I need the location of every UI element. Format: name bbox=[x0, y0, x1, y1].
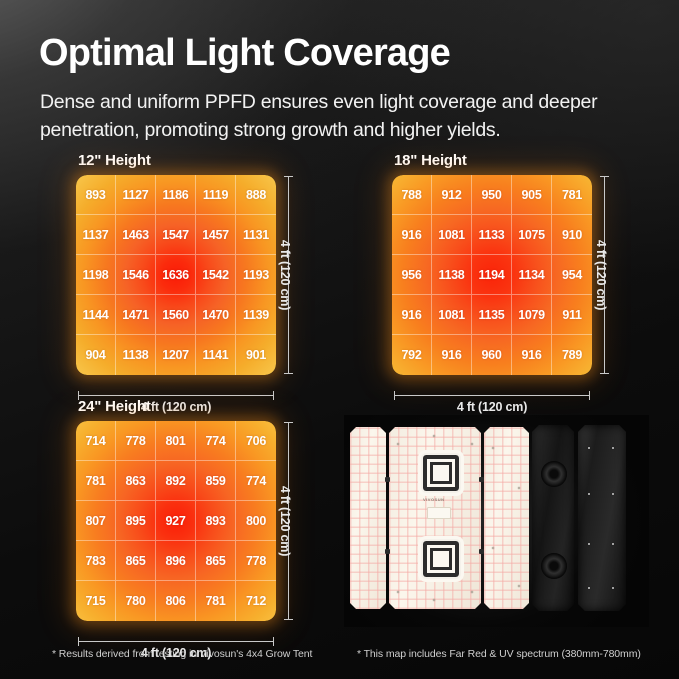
heatmap-cell: 781 bbox=[552, 175, 592, 215]
heatmap-cell: 1127 bbox=[116, 175, 156, 215]
infographic-canvas: Optimal Light Coverage Dense and uniform… bbox=[0, 0, 679, 679]
heatmap-cells-18in: 7889129509057819161081113310759109561138… bbox=[392, 175, 592, 375]
cooling-fan-icon bbox=[541, 461, 567, 487]
heatmap-cell: 1471 bbox=[116, 295, 156, 335]
heatmap-cell: 1560 bbox=[156, 295, 196, 335]
hinge-icon bbox=[479, 549, 484, 554]
screw-icon bbox=[588, 447, 590, 449]
heatmap-cell: 1137 bbox=[76, 215, 116, 255]
heatmap-cell: 801 bbox=[156, 421, 196, 461]
heatmap-cell: 1186 bbox=[156, 175, 196, 215]
heatmap-cell: 774 bbox=[196, 421, 236, 461]
screw-icon bbox=[492, 547, 494, 549]
heatmap-cell: 789 bbox=[552, 335, 592, 375]
led-board-center: VIVOSUN bbox=[389, 427, 481, 609]
height-dimension-label: 4 ft (120 cm) bbox=[592, 175, 609, 375]
width-dimension-18in: 4 ft (120 cm) bbox=[392, 388, 592, 414]
heatmap-cell: 905 bbox=[512, 175, 552, 215]
heatmap-grid-18in: 7889129509057819161081113310759109561138… bbox=[392, 175, 592, 375]
width-rule-icon bbox=[394, 391, 590, 400]
heatmap-cell: 893 bbox=[76, 175, 116, 215]
hinge-icon bbox=[385, 549, 390, 554]
heatmap-cell: 1457 bbox=[196, 215, 236, 255]
product-photo-led-grow-light: VIVOSUN bbox=[344, 415, 649, 627]
heatmap-cell: 893 bbox=[196, 501, 236, 541]
heatmap-cell: 1139 bbox=[236, 295, 276, 335]
screw-icon bbox=[612, 493, 614, 495]
heatmap-cell: 1135 bbox=[472, 295, 512, 335]
heatmap-cell: 1081 bbox=[432, 215, 472, 255]
back-cover-plate bbox=[578, 425, 626, 611]
heatmap-cell: 800 bbox=[236, 501, 276, 541]
heatmap-cell: 1133 bbox=[472, 215, 512, 255]
heatmap-cell: 1207 bbox=[156, 335, 196, 375]
width-dimension-label: 4 ft (120 cm) bbox=[392, 400, 592, 414]
heatmap-cell: 1144 bbox=[76, 295, 116, 335]
heatmap-cell: 1134 bbox=[512, 255, 552, 295]
heatmap-cell: 916 bbox=[392, 215, 432, 255]
heatmap-cell: 859 bbox=[196, 461, 236, 501]
page-subtitle: Dense and uniform PPFD ensures even ligh… bbox=[40, 89, 640, 144]
heatmap-cell: 895 bbox=[116, 501, 156, 541]
heatmap-cell: 954 bbox=[552, 255, 592, 295]
heatmap-cell: 916 bbox=[512, 335, 552, 375]
heatmap-cell: 1081 bbox=[432, 295, 472, 335]
heatmap-cell: 1636 bbox=[156, 255, 196, 295]
heatmap-cell: 783 bbox=[76, 541, 116, 581]
hinge-icon bbox=[385, 477, 390, 482]
height-dimension-label: 4 ft (120 cm) bbox=[276, 421, 293, 621]
page-title: Optimal Light Coverage bbox=[39, 34, 450, 74]
screw-icon bbox=[471, 591, 473, 593]
height-dimension-18in: 4 ft (120 cm) bbox=[598, 175, 626, 375]
heatmap-cell: 778 bbox=[236, 541, 276, 581]
heatmap-cell: 778 bbox=[116, 421, 156, 461]
led-emitter-icon bbox=[421, 539, 461, 579]
screw-icon bbox=[471, 443, 473, 445]
driver-chip bbox=[427, 507, 451, 519]
heatmap-cell: 788 bbox=[392, 175, 432, 215]
heatmap-cell: 865 bbox=[196, 541, 236, 581]
height-dimension-24in: 4 ft (120 cm) bbox=[282, 421, 310, 621]
heatsink-housing bbox=[532, 425, 574, 611]
screw-icon bbox=[397, 591, 399, 593]
heatmap-cell: 781 bbox=[196, 581, 236, 621]
height-dimension-12in: 4 ft (120 cm) bbox=[282, 175, 310, 375]
heatmap-cell: 792 bbox=[392, 335, 432, 375]
screw-icon bbox=[612, 543, 614, 545]
hinge-icon bbox=[479, 477, 484, 482]
footnote-spectrum: * This map includes Far Red & UV spectru… bbox=[357, 648, 641, 660]
product-brand-label: VIVOSUN bbox=[423, 497, 445, 502]
led-board-right bbox=[484, 427, 529, 609]
heatmap-cells-24in: 7147788017747067818638928597748078959278… bbox=[76, 421, 276, 621]
heatmap-cell: 950 bbox=[472, 175, 512, 215]
led-emitter-icon bbox=[421, 453, 461, 493]
heatmap-cell: 904 bbox=[76, 335, 116, 375]
screw-icon bbox=[612, 447, 614, 449]
heatmap-cell: 1463 bbox=[116, 215, 156, 255]
heatmap-cell: 715 bbox=[76, 581, 116, 621]
screw-icon bbox=[518, 487, 520, 489]
heatmap-cell: 901 bbox=[236, 335, 276, 375]
heatmap-cell: 1141 bbox=[196, 335, 236, 375]
heatmap-cell: 1193 bbox=[236, 255, 276, 295]
heatmap-cell: 865 bbox=[116, 541, 156, 581]
heatmap-title-18in: 18" Height bbox=[394, 152, 467, 169]
heatmap-cell: 896 bbox=[156, 541, 196, 581]
heatmap-cell: 712 bbox=[236, 581, 276, 621]
heatmap-cell: 1546 bbox=[116, 255, 156, 295]
screw-icon bbox=[433, 435, 435, 437]
heatmap-cell: 911 bbox=[552, 295, 592, 335]
screw-icon bbox=[518, 585, 520, 587]
heatmap-grid-12in: 8931127118611198881137146315471457113111… bbox=[76, 175, 276, 375]
heatmap-cell: 1079 bbox=[512, 295, 552, 335]
heatmap-cell: 916 bbox=[432, 335, 472, 375]
heatmap-cell: 910 bbox=[552, 215, 592, 255]
cooling-fan-icon bbox=[541, 553, 567, 579]
footnote-testing: * Results derived from testing in Vivosu… bbox=[52, 648, 312, 660]
heatmap-cell: 706 bbox=[236, 421, 276, 461]
heatmap-cell: 806 bbox=[156, 581, 196, 621]
heatmap-grid-24in: 7147788017747067818638928597748078959278… bbox=[76, 421, 276, 621]
heatmap-cell: 1138 bbox=[116, 335, 156, 375]
screw-icon bbox=[588, 587, 590, 589]
heatmap-cell: 1542 bbox=[196, 255, 236, 295]
screw-icon bbox=[397, 443, 399, 445]
heatmap-title-12in: 12" Height bbox=[78, 152, 151, 169]
screw-icon bbox=[588, 543, 590, 545]
heatmap-cell: 1470 bbox=[196, 295, 236, 335]
heatmap-cell: 863 bbox=[116, 461, 156, 501]
screw-icon bbox=[588, 493, 590, 495]
heatmap-cell: 927 bbox=[156, 501, 196, 541]
heatmap-cell: 714 bbox=[76, 421, 116, 461]
width-rule-icon bbox=[78, 637, 274, 646]
heatmap-cell: 892 bbox=[156, 461, 196, 501]
heatmap-cell: 774 bbox=[236, 461, 276, 501]
heatmap-cell: 1119 bbox=[196, 175, 236, 215]
screw-icon bbox=[433, 599, 435, 601]
heatmap-cell: 780 bbox=[116, 581, 156, 621]
heatmap-cell: 956 bbox=[392, 255, 432, 295]
heatmap-cell: 807 bbox=[76, 501, 116, 541]
screw-icon bbox=[492, 447, 494, 449]
heatmap-cell: 960 bbox=[472, 335, 512, 375]
heatmap-cell: 1547 bbox=[156, 215, 196, 255]
heatmap-cell: 912 bbox=[432, 175, 472, 215]
heatmap-cell: 1075 bbox=[512, 215, 552, 255]
heatmap-cells-12in: 8931127118611198881137146315471457113111… bbox=[76, 175, 276, 375]
height-dimension-label: 4 ft (120 cm) bbox=[276, 175, 293, 375]
heatmap-cell: 1194 bbox=[472, 255, 512, 295]
heatmap-cell: 781 bbox=[76, 461, 116, 501]
heatmap-title-24in: 24" Height bbox=[78, 398, 151, 415]
heatmap-cell: 1138 bbox=[432, 255, 472, 295]
heatmap-cell: 1198 bbox=[76, 255, 116, 295]
led-board-left bbox=[350, 427, 386, 609]
heatmap-cell: 888 bbox=[236, 175, 276, 215]
screw-icon bbox=[612, 587, 614, 589]
heatmap-cell: 1131 bbox=[236, 215, 276, 255]
heatmap-cell: 916 bbox=[392, 295, 432, 335]
